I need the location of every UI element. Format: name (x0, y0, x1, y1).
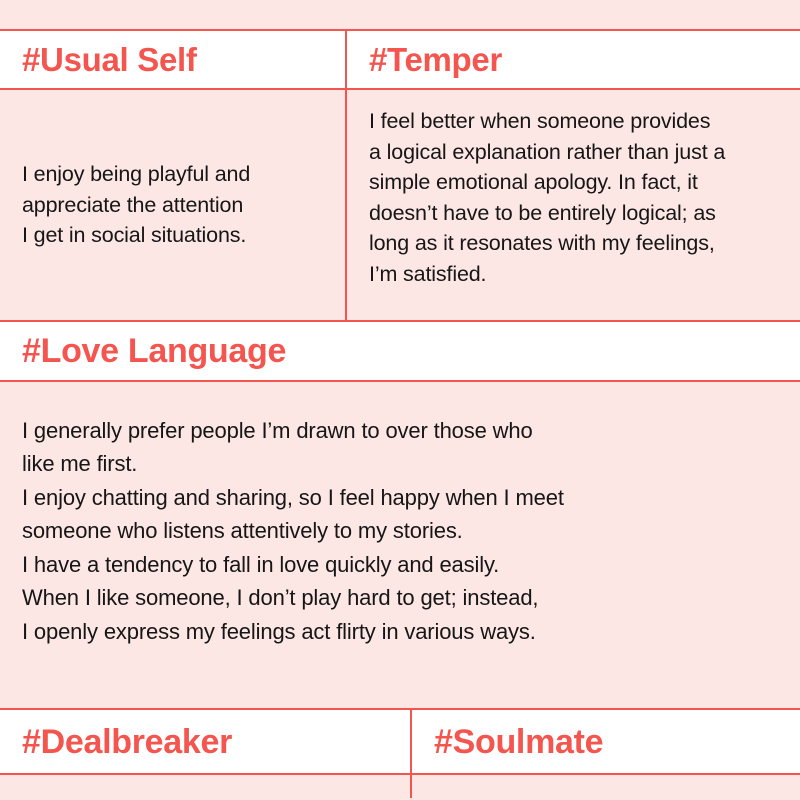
row-3-header: #Dealbreaker #Soulmate (0, 708, 800, 775)
row-3-body (0, 775, 800, 798)
header-cell-love-language[interactable]: #Love Language (0, 322, 800, 380)
header-cell-temper[interactable]: #Temper (345, 31, 800, 88)
heading-usual-self: #Usual Self (22, 43, 197, 76)
body-cell-temper: I feel better when someone provides a lo… (345, 90, 800, 320)
body-text-love-language: I generally prefer people I’m drawn to o… (22, 414, 564, 648)
body-cell-usual-self: I enjoy being playful and appreciate the… (0, 90, 345, 320)
top-spacer (0, 0, 800, 29)
body-cell-soulmate (410, 775, 800, 798)
row-1-body: I enjoy being playful and appreciate the… (0, 90, 800, 320)
body-text-temper: I feel better when someone provides a lo… (369, 106, 725, 289)
body-text-usual-self: I enjoy being playful and appreciate the… (22, 159, 250, 251)
heading-temper: #Temper (369, 43, 502, 76)
body-cell-dealbreaker (0, 775, 410, 798)
heading-love-language: #Love Language (22, 334, 286, 368)
row-2-header: #Love Language (0, 320, 800, 382)
body-cell-love-language: I generally prefer people I’m drawn to o… (0, 382, 800, 708)
row-1-header: #Usual Self #Temper (0, 29, 800, 90)
profile-card: #Usual Self #Temper I enjoy being playfu… (0, 0, 800, 800)
heading-soulmate: #Soulmate (434, 725, 603, 759)
heading-dealbreaker: #Dealbreaker (22, 725, 232, 759)
row-2-body: I generally prefer people I’m drawn to o… (0, 382, 800, 708)
header-cell-usual-self[interactable]: #Usual Self (0, 31, 345, 88)
header-cell-dealbreaker[interactable]: #Dealbreaker (0, 710, 410, 773)
header-cell-soulmate[interactable]: #Soulmate (410, 710, 800, 773)
